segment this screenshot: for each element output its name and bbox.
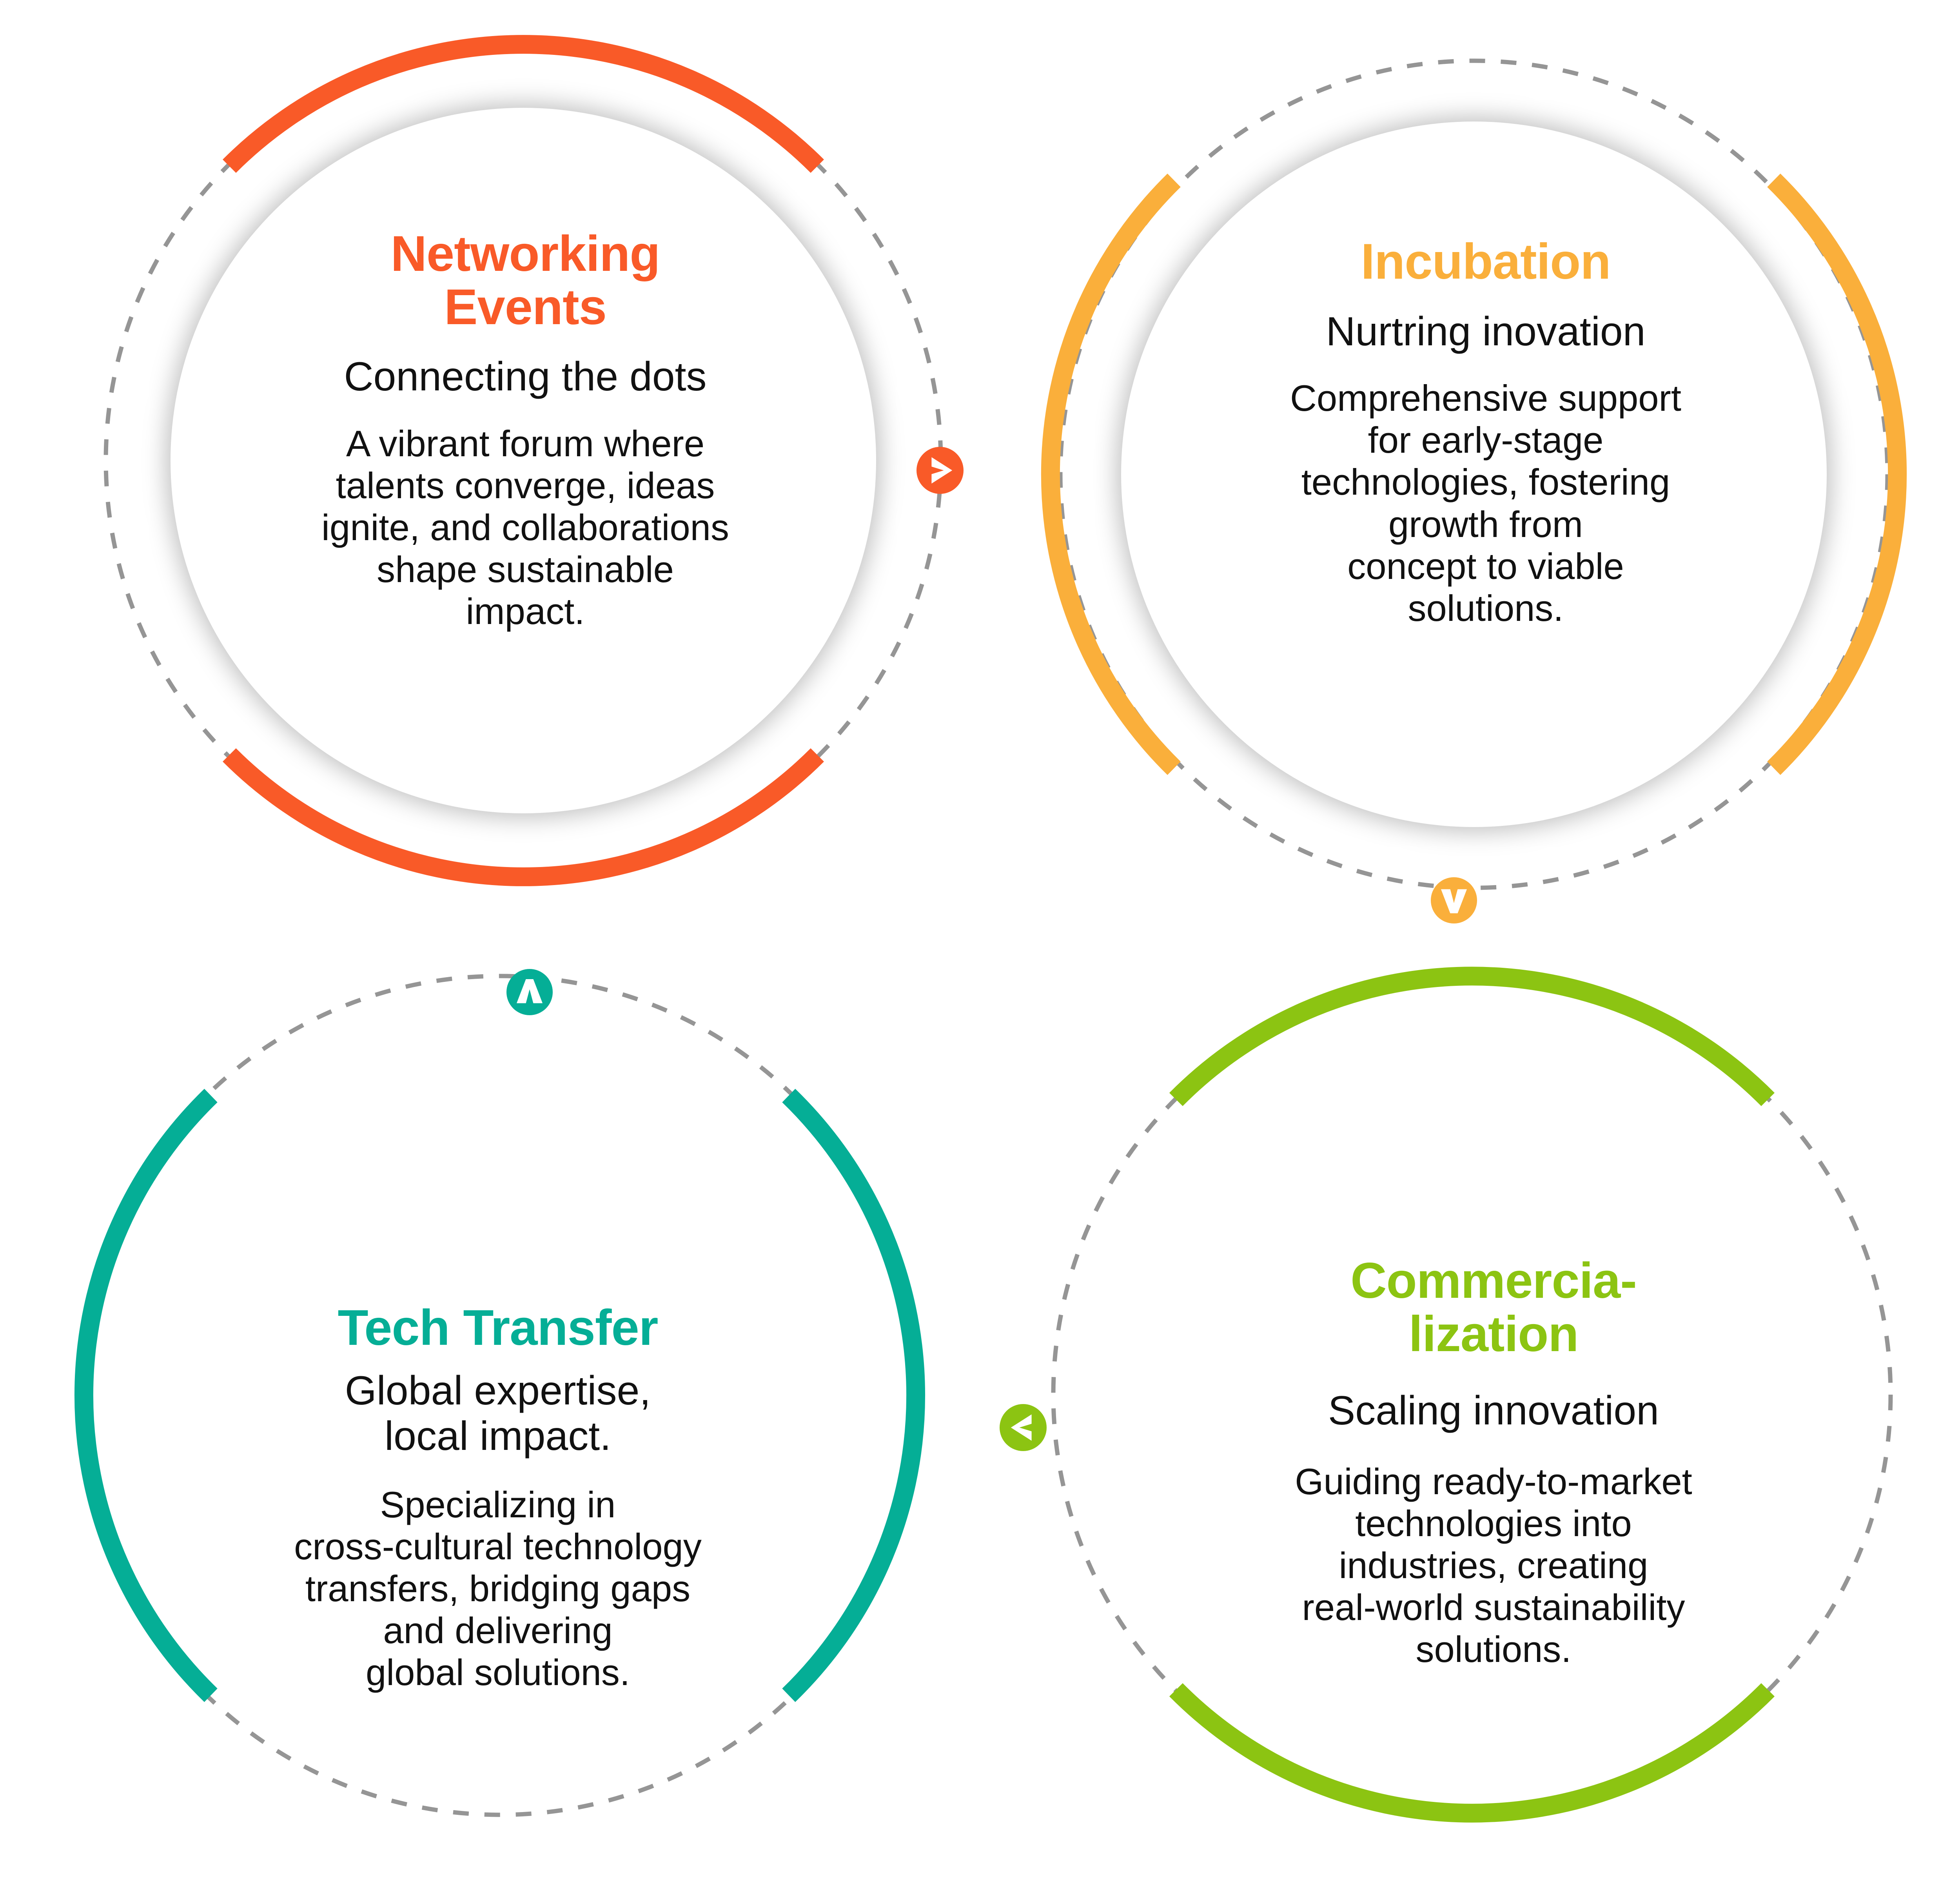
networking-title-line-1: Networking [391,226,660,282]
networking-tagline: Connecting the dots [212,354,839,399]
node-incubation[interactable]: Incubation Nurtring inovation Comprehens… [1007,24,1956,945]
connector-commercialization-to-tech-transfer[interactable] [1000,1404,1047,1451]
node-tech-transfer[interactable]: Tech Transfer Global expertise, local im… [24,956,972,1878]
commercialization-tagline: Scaling innovation [1184,1388,1803,1433]
connector-networking-to-incubation[interactable] [916,447,964,494]
node-commercialization[interactable]: Commercia- lization Scaling innovation G… [1007,956,1956,1878]
commercialization-desc-line-1: Guiding ready-to-market [1295,1461,1692,1502]
incubation-desc-line-2: for early-stage [1368,419,1604,461]
chevron-down-icon [1431,877,1477,923]
incubation-desc-line-5: concept to viable [1347,546,1624,587]
networking-description: A vibrant forum where talents converge, … [212,423,839,633]
chevron-up-icon [506,969,553,1015]
commercialization-arc-bottom [1176,1690,1768,1813]
commercialization-desc-line-4: real-world sustainability [1302,1587,1685,1628]
tech-transfer-title: Tech Transfer [176,1301,819,1355]
networking-desc-line-2: talents converge, ideas [336,465,715,506]
commercialization-title-line-1: Commercia- [1350,1253,1637,1309]
commercialization-content: Commercia- lization Scaling innovation G… [1184,1254,1803,1671]
cycle-diagram: Networking Events Connecting the dots A … [0,0,1960,1894]
incubation-desc-line-1: Comprehensive support [1290,377,1681,419]
chevron-right-icon [916,447,964,494]
networking-title-line-2: Events [444,279,606,335]
commercialization-title-line-2: lization [1409,1306,1579,1362]
tech-transfer-tagline: Global expertise, local impact. [176,1368,819,1459]
incubation-content: Incubation Nurtring inovation Comprehens… [1172,235,1799,629]
tech-transfer-tagline-line-1: Global expertise, [345,1368,651,1413]
chevron-left-icon [1000,1404,1047,1451]
connector-tech-transfer-to-networking[interactable] [506,969,553,1015]
commercialization-desc-line-2: technologies into [1355,1503,1632,1544]
networking-desc-line-1: A vibrant forum where [346,423,704,464]
tech-transfer-description: Specializing in cross-cultural technolog… [176,1484,819,1694]
commercialization-arc-top [1176,976,1768,1099]
tech-transfer-desc-line-1: Specializing in [380,1484,616,1525]
tech-transfer-tagline-line-2: local impact. [385,1413,611,1459]
connector-incubation-to-commercialization[interactable] [1431,877,1477,923]
commercialization-desc-line-3: industries, creating [1339,1545,1648,1586]
commercialization-title: Commercia- lization [1184,1254,1803,1361]
networking-content: Networking Events Connecting the dots A … [212,227,839,633]
tech-transfer-content: Tech Transfer Global expertise, local im… [176,1301,819,1693]
tech-transfer-desc-line-5: global solutions. [366,1652,630,1693]
incubation-desc-line-6: solutions. [1408,588,1563,629]
incubation-tagline: Nurtring inovation [1172,309,1799,354]
incubation-desc-line-4: growth from [1388,504,1583,545]
networking-title: Networking Events [212,227,839,334]
tech-transfer-desc-line-2: cross-cultural technology [294,1526,702,1567]
tech-transfer-desc-line-3: transfers, bridging gaps [305,1568,690,1609]
networking-desc-line-4: shape sustainable [377,549,674,590]
commercialization-description: Guiding ready-to-market technologies int… [1184,1460,1803,1671]
node-networking-events[interactable]: Networking Events Connecting the dots A … [47,24,996,945]
commercialization-desc-line-5: solutions. [1416,1629,1571,1670]
incubation-title: Incubation [1172,235,1799,288]
incubation-desc-line-3: technologies, fostering [1301,461,1670,503]
networking-desc-line-5: impact. [466,591,585,632]
networking-desc-line-3: ignite, and collaborations [321,507,729,548]
tech-transfer-desc-line-4: and delivering [383,1610,612,1651]
incubation-description: Comprehensive support for early-stage te… [1172,377,1799,629]
